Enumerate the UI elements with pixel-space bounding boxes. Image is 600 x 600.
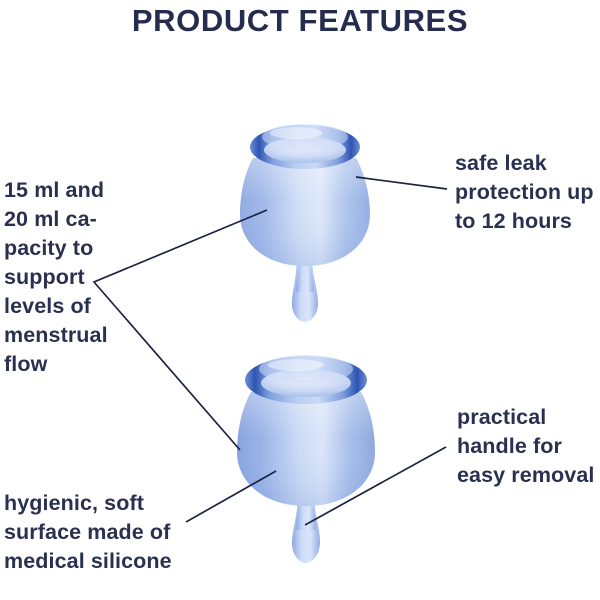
leader-line-hygienic [186, 471, 276, 522]
rim-highlight-large [268, 359, 324, 371]
caption-capacity-line-2: 20 ml ca- [4, 205, 108, 234]
leader-line-capacity [94, 210, 267, 450]
caption-hygienic: hygienic, soft surface made of medical s… [4, 489, 172, 576]
menstrual-cup-large [237, 355, 375, 563]
leader-line-leak-protection [356, 177, 447, 189]
caption-handle-line-3: easy removal [457, 461, 594, 490]
caption-leak-line-1: safe leak [455, 149, 594, 178]
caption-capacity: 15 ml and 20 ml ca- pacity to support le… [4, 176, 108, 379]
caption-hygienic-line-2: surface made of [4, 518, 172, 547]
caption-capacity-line-1: 15 ml and [4, 176, 108, 205]
caption-capacity-line-5: levels of [4, 292, 108, 321]
rim-highlight-small [270, 127, 322, 139]
caption-capacity-line-3: pacity to [4, 234, 108, 263]
product-features-infographic: PRODUCT FEATURES [0, 0, 600, 600]
caption-capacity-line-7: flow [4, 350, 108, 379]
caption-leak-line-3: to 12 hours [455, 207, 594, 236]
caption-hygienic-line-3: medical silicone [4, 547, 172, 576]
menstrual-cup-small [240, 124, 370, 322]
caption-handle: practical handle for easy removal [457, 403, 594, 490]
caption-capacity-line-6: menstrual [4, 321, 108, 350]
caption-leak-protection: safe leak protection up to 12 hours [455, 149, 594, 236]
caption-handle-line-2: handle for [457, 432, 594, 461]
caption-leak-line-2: protection up [455, 178, 594, 207]
caption-handle-line-1: practical [457, 403, 594, 432]
caption-hygienic-line-1: hygienic, soft [4, 489, 172, 518]
caption-capacity-line-4: support [4, 263, 108, 292]
